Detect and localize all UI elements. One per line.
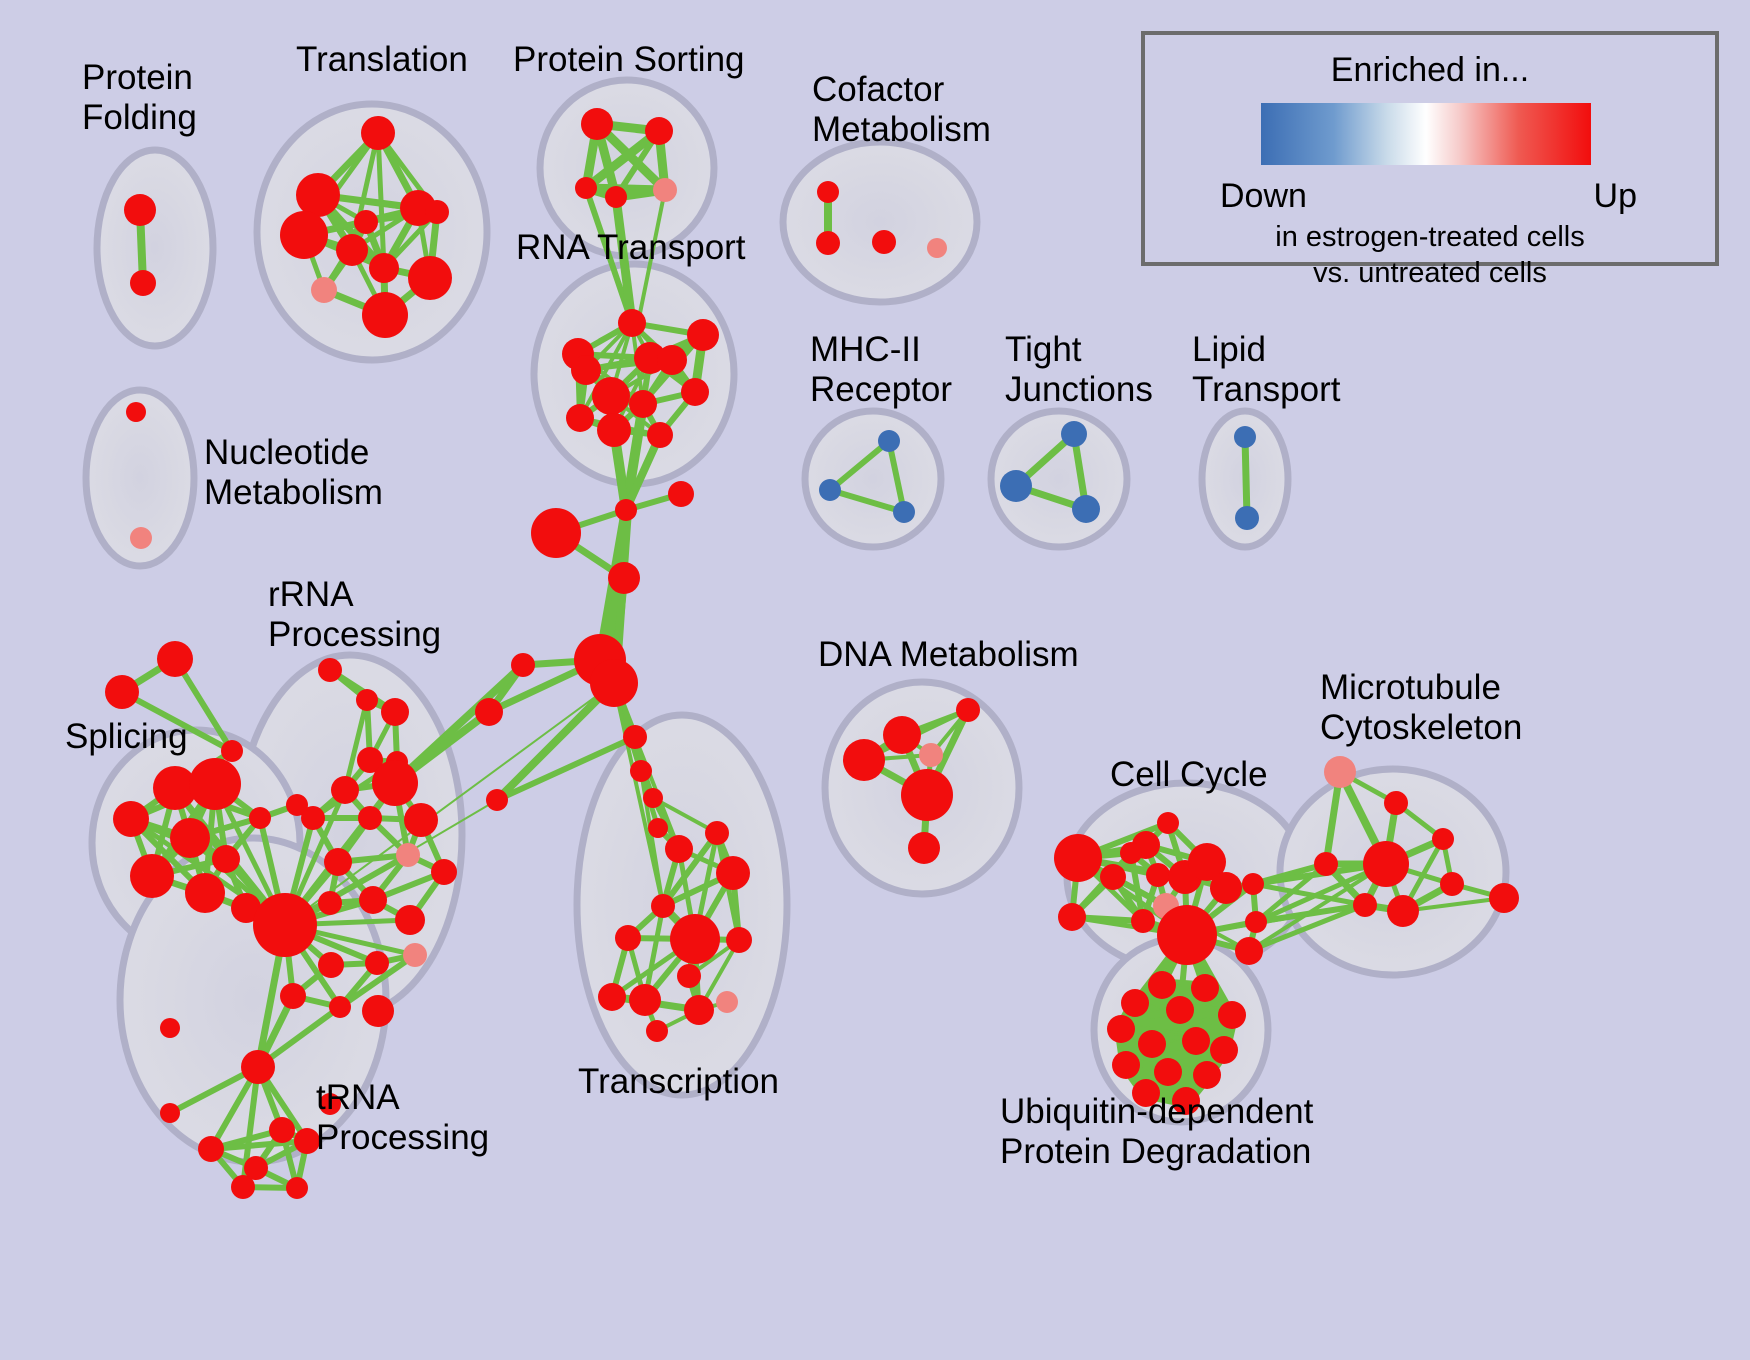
- cluster-label-ubiquitin-protein-degradation: Ubiquitin-dependent Protein Degradation: [1000, 1092, 1313, 1172]
- color-scale-bar: [1261, 103, 1591, 165]
- cluster-label-lipid-transport: Lipid Transport: [1192, 330, 1340, 410]
- legend-high-label: Up: [1594, 177, 1637, 216]
- cluster-label-rna-transport: RNA Transport: [516, 228, 746, 268]
- cluster-label-splicing: Splicing: [65, 717, 188, 757]
- cluster-label-transcription: Transcription: [578, 1062, 779, 1102]
- legend-low-label: Down: [1220, 177, 1307, 216]
- cluster-label-protein-folding: Protein Folding: [82, 58, 197, 138]
- cluster-label-microtubule-cytoskeleton: Microtubule Cytoskeleton: [1320, 668, 1522, 748]
- cluster-label-cell-cycle: Cell Cycle: [1110, 755, 1268, 795]
- hull-cofactor: [783, 142, 977, 302]
- cluster-label-protein-sorting: Protein Sorting: [513, 40, 745, 80]
- hull-transcription: [577, 715, 787, 1095]
- legend-caption-line1: in estrogen-treated cells: [1145, 221, 1715, 254]
- cluster-label-nucleotide-metabolism: Nucleotide Metabolism: [204, 433, 383, 513]
- cluster-label-dna-metabolism: DNA Metabolism: [818, 635, 1079, 675]
- hull-protein-folding: [97, 150, 213, 346]
- legend-title: Enriched in...: [1145, 51, 1715, 90]
- cluster-label-trna-processing: tRNA Processing: [316, 1078, 489, 1158]
- hull-mhc: [805, 411, 941, 547]
- cluster-label-translation: Translation: [296, 40, 468, 80]
- cluster-label-rrna-processing: rRNA Processing: [268, 575, 441, 655]
- legend-box: Enriched in... Down Up in estrogen-treat…: [1141, 31, 1719, 266]
- cluster-label-mhc-ii-receptor: MHC-II Receptor: [810, 330, 952, 410]
- network-figure: .hull{fill:url(#cg);stroke:#b0b0c8;strok…: [0, 0, 1750, 1360]
- legend-caption-line2: vs. untreated cells: [1145, 257, 1715, 290]
- cluster-label-tight-junctions: Tight Junctions: [1005, 330, 1153, 410]
- cluster-label-cofactor-metabolism: Cofactor Metabolism: [812, 70, 991, 150]
